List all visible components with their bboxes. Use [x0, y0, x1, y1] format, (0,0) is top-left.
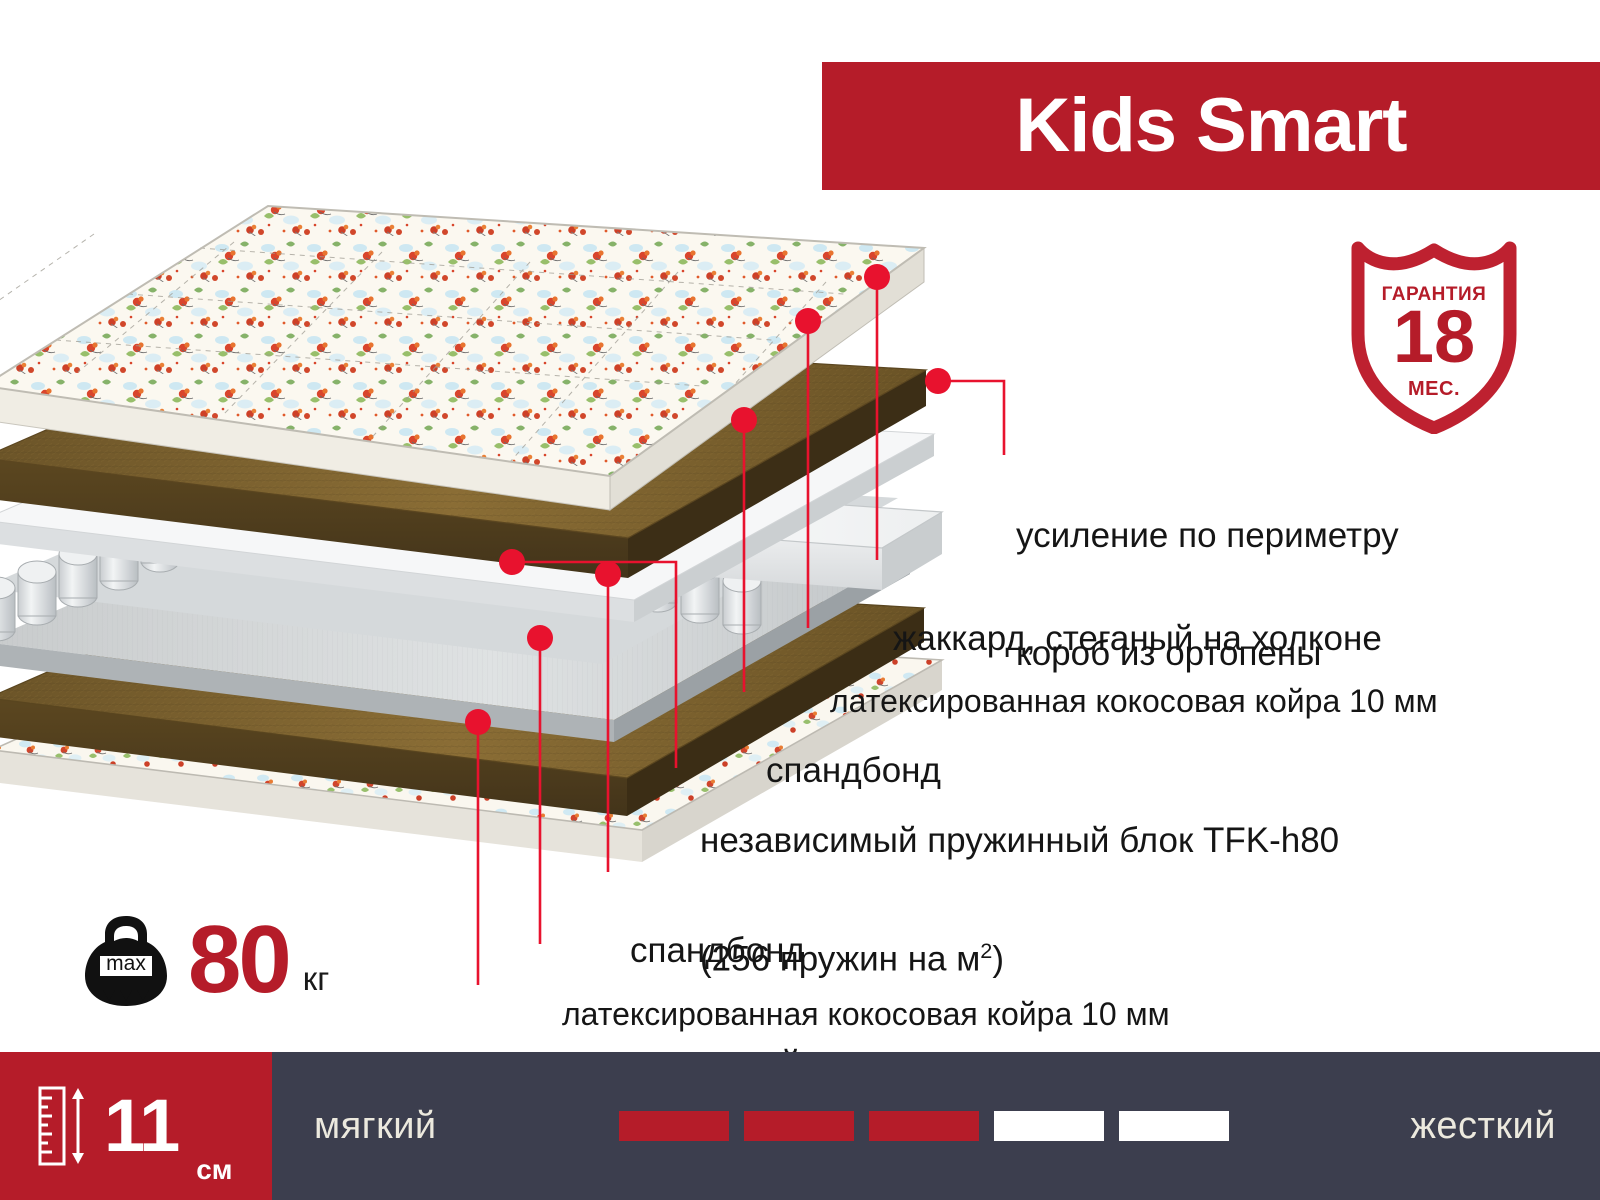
max-load-value: 80 — [188, 916, 289, 1004]
firmness-segment-1 — [619, 1111, 729, 1141]
product-title: Kids Smart — [1015, 88, 1406, 164]
firmness-segment-3 — [869, 1111, 979, 1141]
max-load-icon-label: max — [78, 952, 174, 976]
firmness-soft-label: мягкий — [314, 1105, 437, 1148]
warranty-unit: МЕС. — [1344, 378, 1524, 401]
firmness-scale — [619, 1111, 1229, 1141]
height-unit: см — [196, 1154, 232, 1186]
height-block: 11 см — [0, 1052, 272, 1200]
ruler-icon — [38, 1086, 90, 1166]
product-title-banner: Kids Smart — [822, 62, 1600, 190]
firmness-segment-5 — [1119, 1111, 1229, 1141]
bottom-bar: 11 см мягкий жесткий — [0, 1052, 1600, 1200]
max-load-block: max 80 кг — [78, 908, 329, 1012]
firmness-hard-label: жесткий — [1410, 1105, 1556, 1148]
infographic-canvas: Kids Smart ГАРАНТИЯ 18 МЕС. — [0, 0, 1600, 1200]
firmness-block: мягкий жесткий — [272, 1052, 1600, 1200]
firmness-segment-4 — [994, 1111, 1104, 1141]
firmness-segment-2 — [744, 1111, 854, 1141]
max-load-unit: кг — [303, 960, 329, 998]
warranty-value: 18 — [1344, 300, 1524, 374]
warranty-badge: ГАРАНТИЯ 18 МЕС. — [1344, 238, 1524, 434]
height-value: 11 — [104, 1089, 178, 1163]
kettlebell-icon: max — [78, 908, 174, 1012]
